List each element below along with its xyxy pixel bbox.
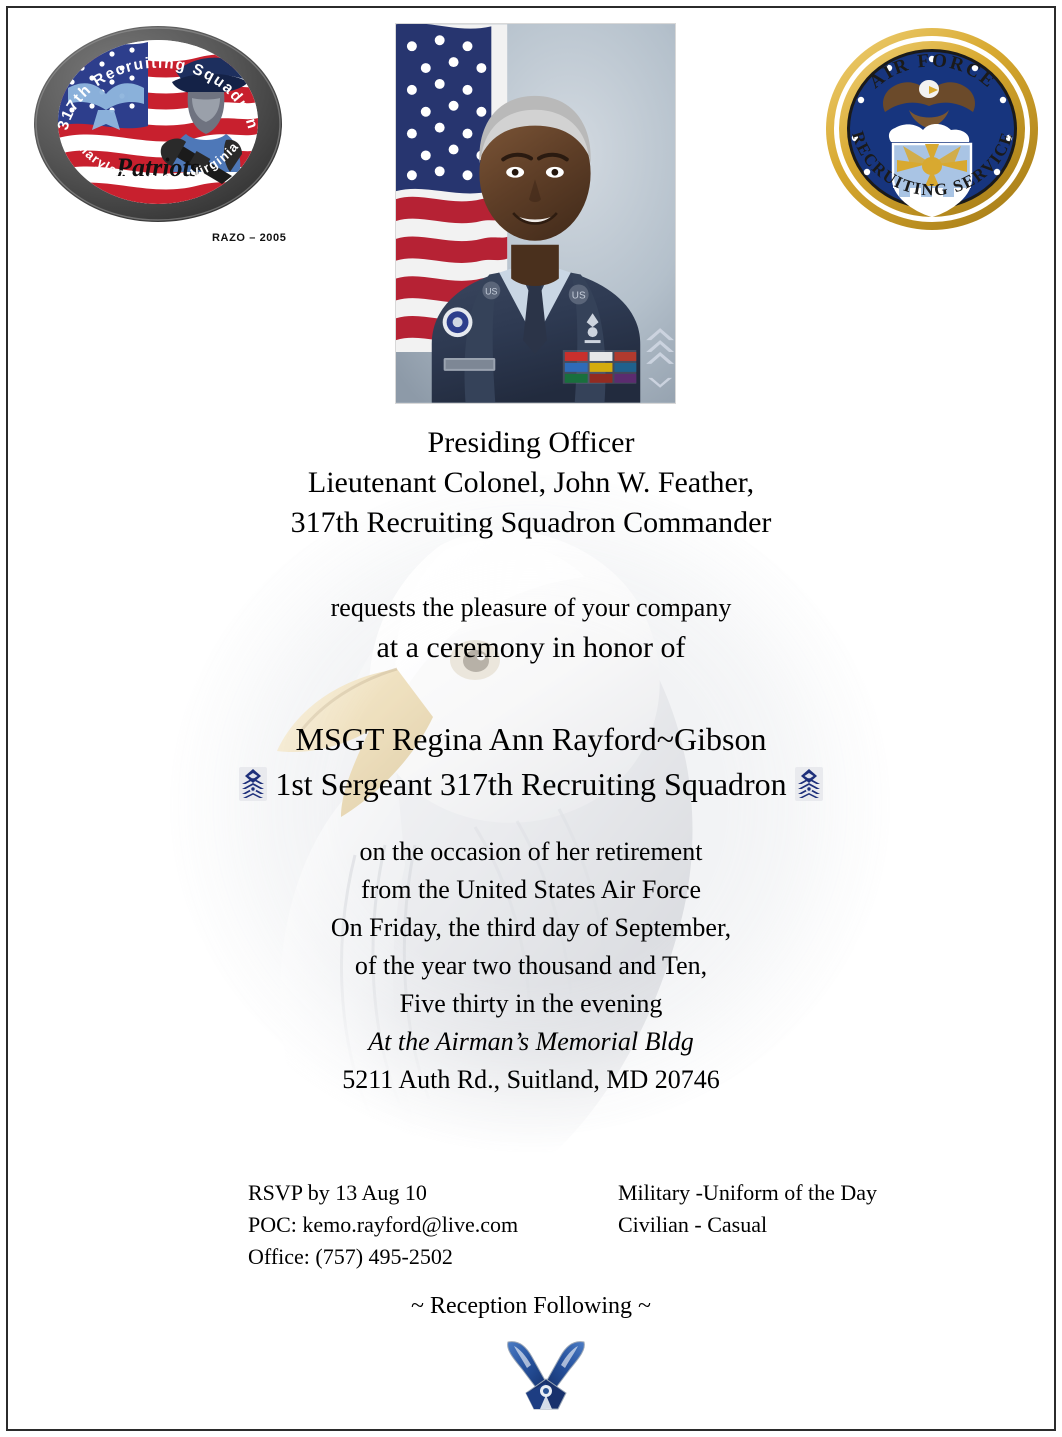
presiding-officer-block: Presiding Officer Lieutenant Colonel, Jo… — [60, 423, 1002, 543]
honoree-block: MSGT Regina Ann Rayford~Gibson 1st S — [60, 718, 1002, 805]
ceremony-venue: At the Airman’s Memorial Bldg — [60, 1023, 1002, 1061]
air-force-wings-symbol — [502, 1337, 590, 1415]
dress-military: Military -Uniform of the Day — [618, 1177, 877, 1209]
reception-note: ~ Reception Following ~ — [60, 1293, 1002, 1320]
rsvp-office-phone[interactable]: Office: (757) 495-2502 — [248, 1241, 518, 1273]
rsvp-poc-email[interactable]: POC: kemo.rayford@live.com — [248, 1209, 518, 1241]
honoree-title-row: 1st Sergeant 317th Recruiting Squadron — [60, 763, 1002, 805]
invitation-page: Patriots 317th Recruiting Squadron Maryl… — [0, 0, 1062, 1437]
first-sergeant-chevron-icon — [239, 767, 267, 801]
dress-code-block: Military -Uniform of the Day Civilian - … — [618, 1177, 877, 1241]
honoree-name: MSGT Regina Ann Rayford~Gibson — [60, 718, 1002, 760]
rsvp-deadline: RSVP by 13 Aug 10 — [248, 1177, 518, 1209]
ceremony-address: 5211 Auth Rd., Suitland, MD 20746 — [60, 1061, 1002, 1099]
presiding-label: Presiding Officer — [60, 423, 1002, 463]
ceremony-time: Five thirty in the evening — [60, 985, 1002, 1023]
occasion-line-1: on the occasion of her retirement — [60, 833, 1002, 871]
dress-civilian: Civilian - Casual — [618, 1209, 877, 1241]
request-block: requests the pleasure of your company at… — [60, 588, 1002, 668]
ceremony-date: On Friday, the third day of September, — [60, 909, 1002, 947]
rsvp-block: RSVP by 13 Aug 10 POC: kemo.rayford@live… — [248, 1177, 518, 1273]
request-line-2: at a ceremony in honor of — [60, 628, 1002, 668]
occasion-line-2: from the United States Air Force — [60, 871, 1002, 909]
first-sergeant-chevron-icon — [795, 767, 823, 801]
request-line-1: requests the pleasure of your company — [60, 588, 1002, 628]
presiding-officer-name: Lieutenant Colonel, John W. Feather, — [60, 463, 1002, 503]
occasion-block: on the occasion of her retirement from t… — [60, 833, 1002, 1099]
ceremony-year: of the year two thousand and Ten, — [60, 947, 1002, 985]
honoree-title: 1st Sergeant 317th Recruiting Squadron — [275, 763, 786, 805]
presiding-officer-position: 317th Recruiting Squadron Commander — [60, 503, 1002, 543]
